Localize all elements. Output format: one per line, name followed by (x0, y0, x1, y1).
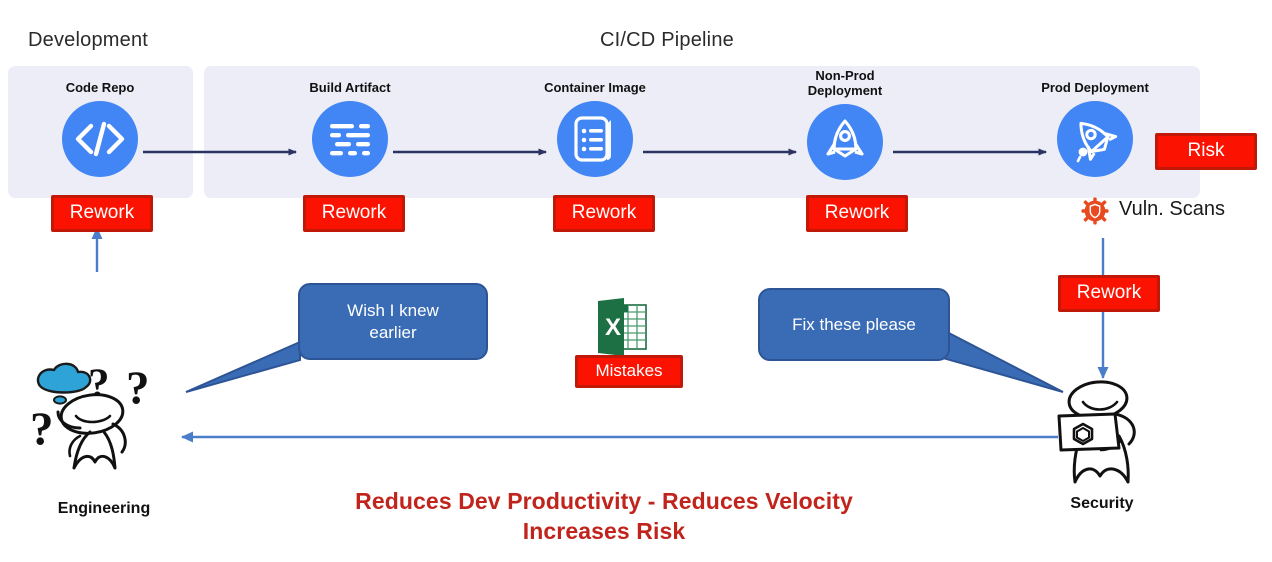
rework-badge-code-repo[interactable]: Rework (51, 195, 153, 232)
confused-person-icon: ? ? ? (18, 358, 190, 475)
rework-badge-non-prod[interactable]: Rework (806, 195, 908, 232)
rocket-fly-icon (1057, 101, 1133, 177)
rework-badge-container-image[interactable]: Rework (553, 195, 655, 232)
stage-build-artifact[interactable]: Build Artifact (275, 80, 425, 177)
person-label-security: Security (1043, 495, 1161, 513)
code-brackets-icon (62, 101, 138, 177)
speech-bubble-engineering[interactable]: Wish I knew earlier (298, 283, 488, 360)
stage-label: Prod Deployment (1020, 80, 1170, 95)
stage-container-image[interactable]: Container Image (520, 80, 670, 177)
lane-title-development: Development (28, 28, 148, 52)
rework-badge-build-artifact[interactable]: Rework (303, 195, 405, 232)
speech-bubble-security[interactable]: Fix these please (758, 288, 950, 361)
speech-bubble-text: Wish I knew earlier (347, 300, 439, 344)
rocket-icon (807, 104, 883, 180)
svg-text:?: ? (30, 403, 54, 455)
person-laptop-icon (1043, 378, 1161, 491)
vuln-scans-label: Vuln. Scans (1119, 198, 1225, 221)
person-label-engineering: Engineering (28, 500, 180, 518)
svg-text:?: ? (126, 362, 150, 414)
stage-label: Container Image (520, 80, 670, 95)
mistakes-badge[interactable]: Mistakes (575, 355, 683, 388)
build-lines-icon (312, 101, 388, 177)
stage-code-repo[interactable]: Code Repo (25, 80, 175, 177)
lane-title-cicd: CI/CD Pipeline (600, 28, 734, 52)
speech-bubble-text: Fix these please (792, 314, 916, 336)
shield-gear-icon (1081, 197, 1109, 230)
stage-label: Code Repo (25, 80, 175, 95)
summary-caption: Reduces Dev Productivity - Reduces Veloc… (236, 486, 972, 546)
document-list-icon (557, 101, 633, 177)
stage-non-prod-deployment[interactable]: Non-Prod Deployment (770, 68, 920, 180)
excel-spreadsheet-icon: X (594, 298, 650, 361)
risk-badge[interactable]: Risk (1155, 133, 1257, 170)
stage-label: Non-Prod Deployment (770, 68, 920, 98)
stage-label: Build Artifact (275, 80, 425, 95)
stage-prod-deployment[interactable]: Prod Deployment (1020, 80, 1170, 177)
svg-text:X: X (605, 314, 621, 341)
rework-badge-prod[interactable]: Rework (1058, 275, 1160, 312)
